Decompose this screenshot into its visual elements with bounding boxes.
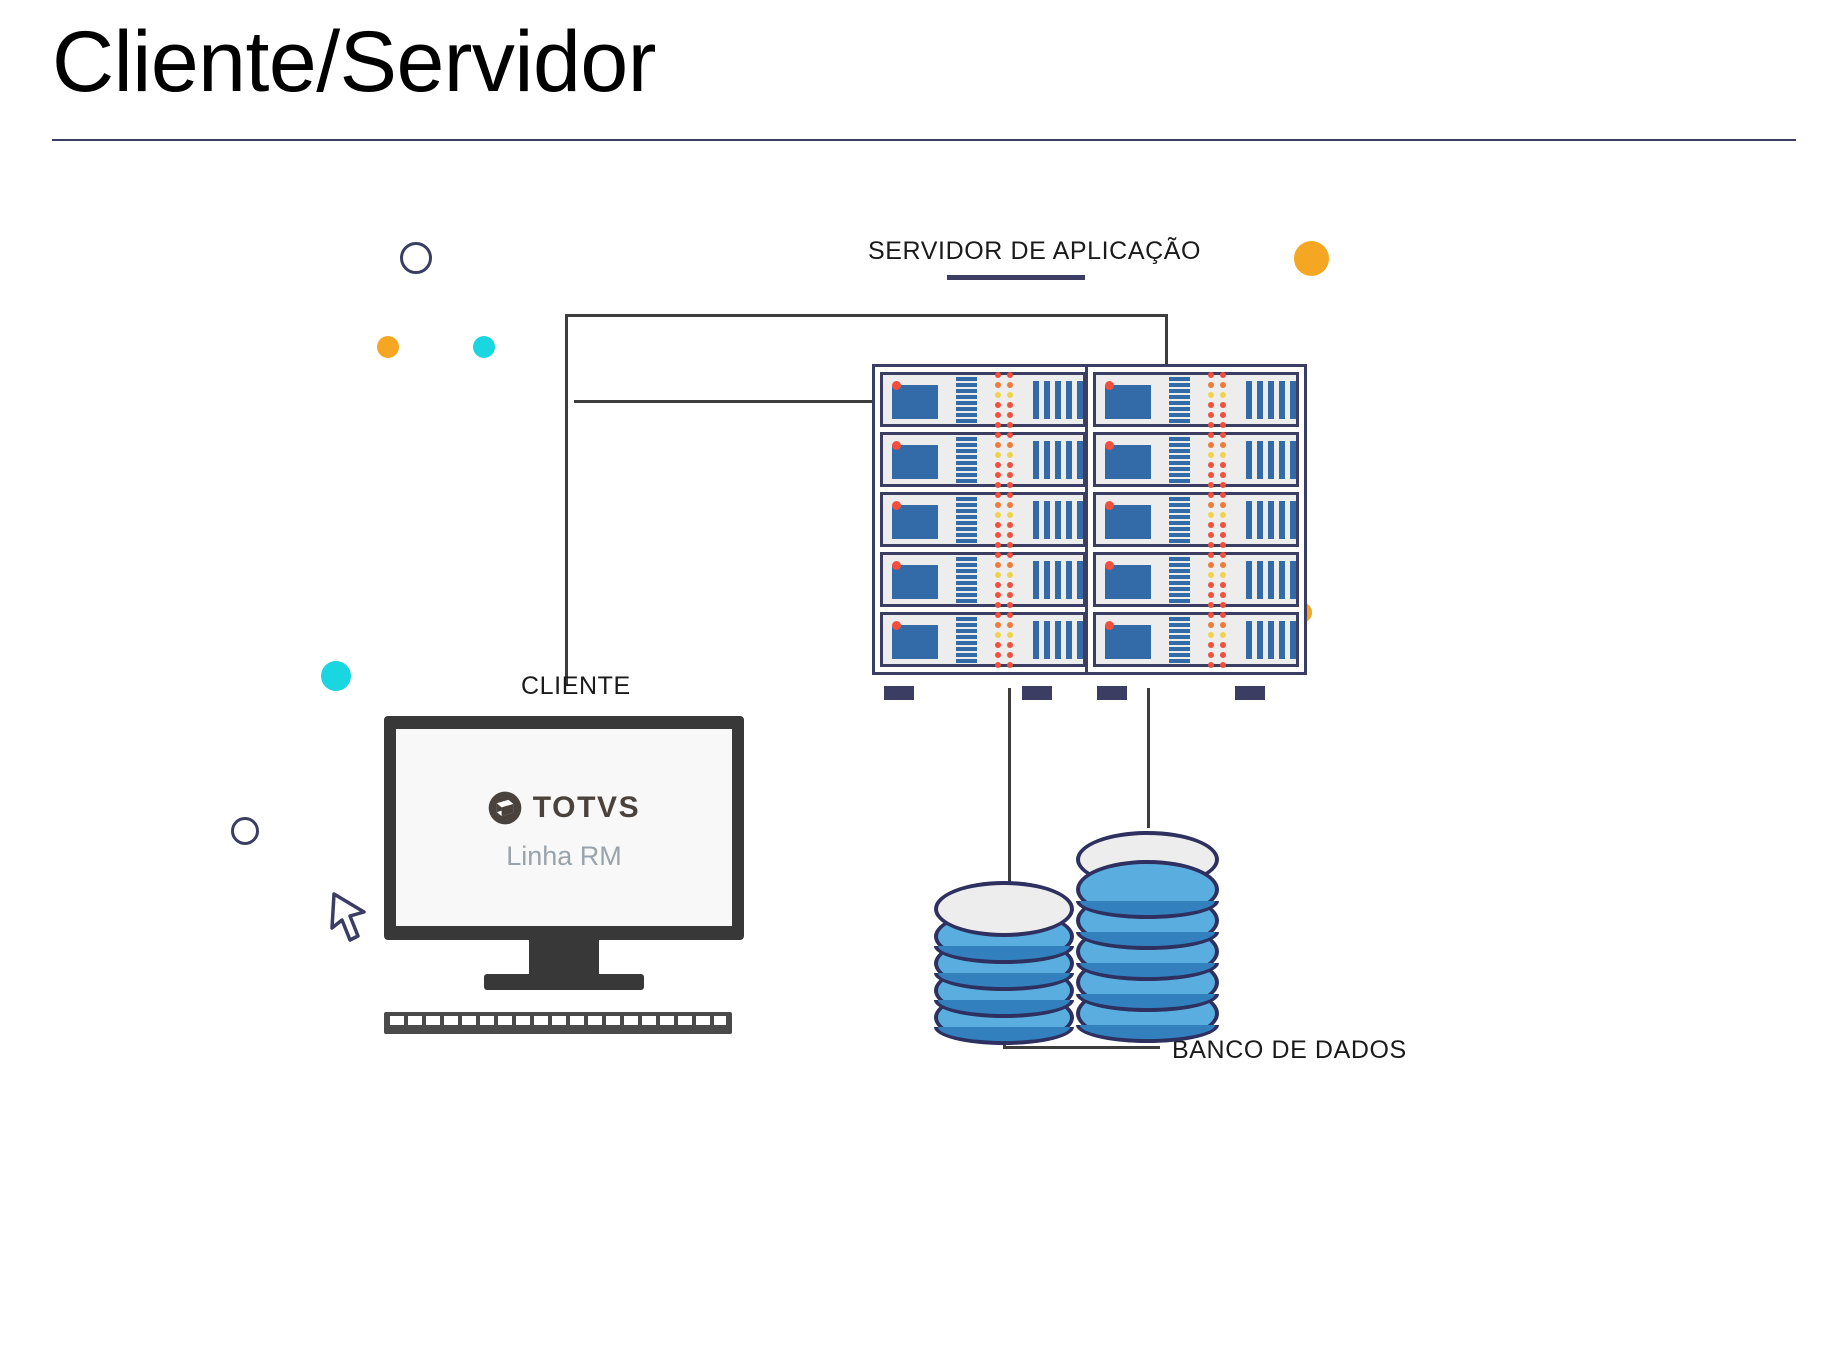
monitor-stand-base bbox=[484, 974, 644, 990]
unit-indicator-dots bbox=[995, 432, 1013, 488]
label-app-server: SERVIDOR DE APLICAÇÃO bbox=[868, 237, 1201, 266]
unit-horizontal-bars bbox=[1169, 497, 1190, 543]
unit-indicator-dots bbox=[1208, 432, 1226, 488]
unit-indicator-dots bbox=[1208, 372, 1226, 428]
database-large[interactable] bbox=[1076, 831, 1219, 1043]
status-led-icon bbox=[892, 381, 901, 390]
server-rack-2[interactable] bbox=[1085, 364, 1307, 675]
mouse-cursor-icon bbox=[328, 890, 370, 948]
unit-horizontal-bars bbox=[956, 617, 977, 663]
unit-vertical-bars bbox=[1033, 561, 1083, 599]
unit-display bbox=[1105, 565, 1151, 599]
database-small[interactable] bbox=[934, 881, 1074, 1045]
orange-dot-small bbox=[377, 336, 399, 358]
rack-1-chassis bbox=[872, 364, 1094, 675]
connector-top-horizontal bbox=[565, 314, 1168, 317]
unit-indicator-dots bbox=[995, 372, 1013, 428]
status-led-icon bbox=[1105, 441, 1114, 450]
label-client: CLIENTE bbox=[521, 672, 631, 701]
database-small-top-surface bbox=[934, 881, 1074, 937]
unit-horizontal-bars bbox=[1169, 437, 1190, 483]
unit-indicator-dots bbox=[1208, 492, 1226, 548]
unit-horizontal-bars bbox=[956, 497, 977, 543]
unit-indicator-dots bbox=[995, 552, 1013, 608]
unit-vertical-bars bbox=[1033, 441, 1083, 479]
rack-2-foot-left bbox=[1097, 686, 1127, 700]
unit-display bbox=[892, 445, 938, 479]
unit-display bbox=[892, 625, 938, 659]
title-divider bbox=[52, 139, 1796, 141]
connector-db-label-horizontal bbox=[1003, 1046, 1160, 1049]
connector-client-vertical bbox=[565, 314, 568, 686]
label-app-server-underline bbox=[947, 275, 1085, 280]
keyboard[interactable] bbox=[384, 1012, 732, 1034]
rack-1-unit-1[interactable] bbox=[880, 372, 1086, 427]
monitor-screen[interactable]: TOTVS Linha RM bbox=[396, 729, 732, 926]
unit-vertical-bars bbox=[1246, 501, 1296, 539]
status-led-icon bbox=[1105, 621, 1114, 630]
unit-indicator-dots bbox=[995, 492, 1013, 548]
rack-2-unit-5[interactable] bbox=[1093, 612, 1299, 667]
unit-horizontal-bars bbox=[956, 377, 977, 423]
keyboard-keys bbox=[390, 1016, 726, 1025]
unit-indicator-dots bbox=[1208, 552, 1226, 608]
unit-display bbox=[892, 505, 938, 539]
unit-horizontal-bars bbox=[1169, 377, 1190, 423]
monitor-stand-neck bbox=[529, 940, 599, 978]
brand-lockup: TOTVS bbox=[396, 791, 732, 825]
server-rack-1[interactable] bbox=[872, 364, 1094, 675]
unit-vertical-bars bbox=[1246, 561, 1296, 599]
rack-2-foot-right bbox=[1235, 686, 1265, 700]
unit-horizontal-bars bbox=[956, 557, 977, 603]
rack-2-unit-3[interactable] bbox=[1093, 492, 1299, 547]
unit-display bbox=[1105, 505, 1151, 539]
unit-display bbox=[1105, 385, 1151, 419]
rack-1-unit-5[interactable] bbox=[880, 612, 1086, 667]
unit-horizontal-bars bbox=[1169, 617, 1190, 663]
status-led-icon bbox=[892, 561, 901, 570]
rack-1-unit-2[interactable] bbox=[880, 432, 1086, 487]
status-led-icon bbox=[892, 621, 901, 630]
status-led-icon bbox=[892, 501, 901, 510]
unit-display bbox=[1105, 625, 1151, 659]
rack-2-chassis bbox=[1085, 364, 1307, 675]
status-led-icon bbox=[1105, 501, 1114, 510]
unit-vertical-bars bbox=[1033, 621, 1083, 659]
connector-rack1-to-db bbox=[1008, 688, 1011, 894]
totvs-logo-icon bbox=[488, 791, 522, 825]
unit-indicator-dots bbox=[995, 612, 1013, 668]
orange-dot-large bbox=[1294, 241, 1329, 276]
unit-horizontal-bars bbox=[956, 437, 977, 483]
product-line-label: Linha RM bbox=[396, 841, 732, 872]
rack-1-foot-right bbox=[1022, 686, 1052, 700]
status-led-icon bbox=[892, 441, 901, 450]
rack-1-unit-4[interactable] bbox=[880, 552, 1086, 607]
unit-display bbox=[1105, 445, 1151, 479]
rack-2-unit-1[interactable] bbox=[1093, 372, 1299, 427]
unit-vertical-bars bbox=[1246, 441, 1296, 479]
unit-horizontal-bars bbox=[1169, 557, 1190, 603]
status-led-icon bbox=[1105, 381, 1114, 390]
rack-1-foot-left bbox=[884, 686, 914, 700]
rack-2-unit-4[interactable] bbox=[1093, 552, 1299, 607]
rack-1-unit-3[interactable] bbox=[880, 492, 1086, 547]
connector-mid-horizontal bbox=[574, 400, 874, 403]
hollow-circle-left bbox=[231, 817, 259, 845]
rack-2-unit-2[interactable] bbox=[1093, 432, 1299, 487]
unit-display bbox=[892, 565, 938, 599]
hollow-circle-top-left bbox=[400, 242, 432, 274]
status-led-icon bbox=[1105, 561, 1114, 570]
unit-indicator-dots bbox=[1208, 612, 1226, 668]
database-large-disc-1 bbox=[1076, 860, 1219, 920]
connector-rack2-to-db bbox=[1147, 688, 1150, 828]
unit-vertical-bars bbox=[1033, 381, 1083, 419]
unit-vertical-bars bbox=[1033, 501, 1083, 539]
cyan-dot-small bbox=[473, 336, 495, 358]
unit-vertical-bars bbox=[1246, 381, 1296, 419]
connector-rack2-vertical bbox=[1165, 314, 1168, 368]
brand-wordmark: TOTVS bbox=[533, 793, 640, 823]
page-title: Cliente/Servidor bbox=[52, 14, 656, 110]
monitor-bezel: TOTVS Linha RM bbox=[384, 716, 744, 940]
cyan-dot-large bbox=[321, 661, 351, 691]
unit-vertical-bars bbox=[1246, 621, 1296, 659]
unit-display bbox=[892, 385, 938, 419]
